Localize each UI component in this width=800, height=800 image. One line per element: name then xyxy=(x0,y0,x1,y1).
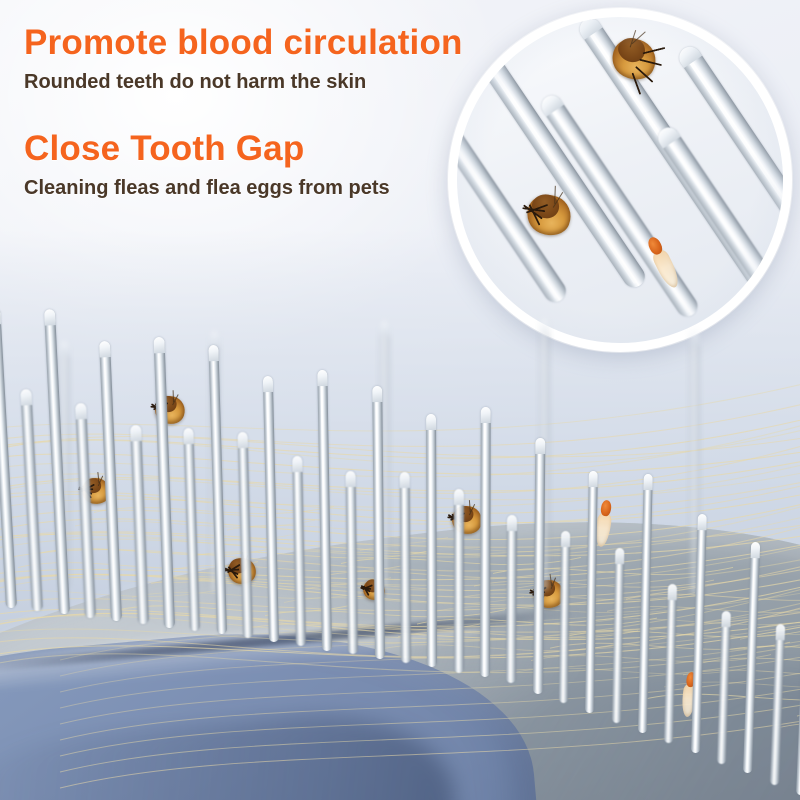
comb-pin xyxy=(480,407,490,677)
magnifier-vignette xyxy=(457,17,783,343)
comb-pin xyxy=(533,437,545,693)
flea-head xyxy=(600,500,612,517)
feature-two-headline: Close Tooth Gap xyxy=(24,128,390,170)
feature-block-one: Promote blood circulation Rounded teeth … xyxy=(24,22,463,96)
feature-one-subheading: Rounded teeth do not harm the skin xyxy=(24,68,463,96)
feature-block-two: Close Tooth Gap Cleaning fleas and flea … xyxy=(24,128,390,202)
feature-one-headline: Promote blood circulation xyxy=(24,22,463,64)
magnified-detail-circle xyxy=(448,8,792,352)
comb-pin xyxy=(400,472,411,663)
comb-pin xyxy=(454,489,464,673)
comb-pin xyxy=(426,414,437,667)
comb-pin xyxy=(506,515,517,683)
product-feature-image: Promote blood circulation Rounded teeth … xyxy=(0,0,800,800)
feature-two-subheading: Cleaning fleas and flea eggs from pets xyxy=(24,174,390,202)
